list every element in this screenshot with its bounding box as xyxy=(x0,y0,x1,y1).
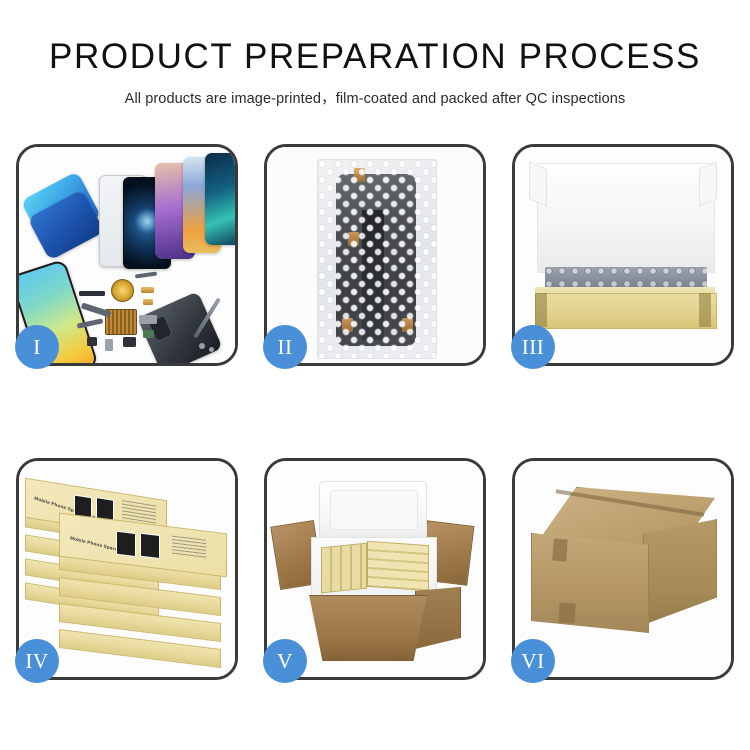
panel-step-1[interactable]: I xyxy=(16,144,238,366)
bubble-wrap-bag xyxy=(317,159,437,359)
step-badge-3: III xyxy=(511,325,555,369)
process-panel-grid: I II xyxy=(16,144,734,680)
gold-connector-part xyxy=(141,287,154,293)
box-label-screen-2a xyxy=(116,531,136,557)
foam-lid-recess xyxy=(330,490,418,530)
flex-cable-part-1 xyxy=(81,303,111,318)
carton-tape-lower xyxy=(558,602,575,623)
step-badge-1: I xyxy=(15,325,59,369)
speaker-part xyxy=(123,337,136,347)
box-lid-flap-left xyxy=(529,161,547,206)
panel-step-2[interactable]: II xyxy=(264,144,486,366)
sealed-carton-front xyxy=(531,533,649,633)
box-label-screen-2b xyxy=(140,533,160,559)
step-badge-6: VI xyxy=(511,639,555,683)
box-base-yellow xyxy=(535,293,717,329)
box-label-lines-2 xyxy=(172,536,206,560)
vibration-motor-part xyxy=(111,279,134,302)
screw-part-2 xyxy=(209,347,214,352)
box-lid-flap-right xyxy=(699,161,717,206)
panel-step-3[interactable]: III xyxy=(512,144,734,366)
foam-cooler-lid xyxy=(319,481,427,541)
screw-part-1 xyxy=(199,343,205,349)
flex-cable-part-3 xyxy=(135,271,157,278)
box-base-edge-right xyxy=(699,293,711,327)
step-badge-5: V xyxy=(263,639,307,683)
panel-step-4[interactable]: Mobile Phone Spare Parts Mobile Phone Sp… xyxy=(16,458,238,680)
step-badge-2: II xyxy=(263,325,307,369)
panel-step-6[interactable]: VI xyxy=(512,458,734,680)
sim-tray-part xyxy=(143,330,154,338)
sealed-carton-side xyxy=(643,519,717,625)
box-lid-white xyxy=(537,163,715,273)
page-title: PRODUCT PREPARATION PROCESS xyxy=(0,38,750,77)
battery-connector-part xyxy=(105,339,113,351)
box-base-edge-left xyxy=(535,293,547,327)
phone-display-teal xyxy=(205,153,235,245)
packed-yellow-boxes-left xyxy=(321,543,367,594)
bubble-texture xyxy=(318,160,436,358)
gold-bracket-part xyxy=(143,299,153,305)
earpiece-part xyxy=(79,291,105,296)
camera-module-part xyxy=(139,315,157,324)
step-badge-4: IV xyxy=(15,639,59,683)
small-ic-part xyxy=(87,337,97,346)
page-header: PRODUCT PREPARATION PROCESS All products… xyxy=(0,0,750,108)
carton-front-panel xyxy=(301,595,435,661)
page-subtitle: All products are image-printed，film-coat… xyxy=(0,87,750,108)
panel-step-5[interactable]: V xyxy=(264,458,486,680)
packed-yellow-boxes-right xyxy=(367,541,429,591)
carton-tape-upper xyxy=(552,539,568,562)
